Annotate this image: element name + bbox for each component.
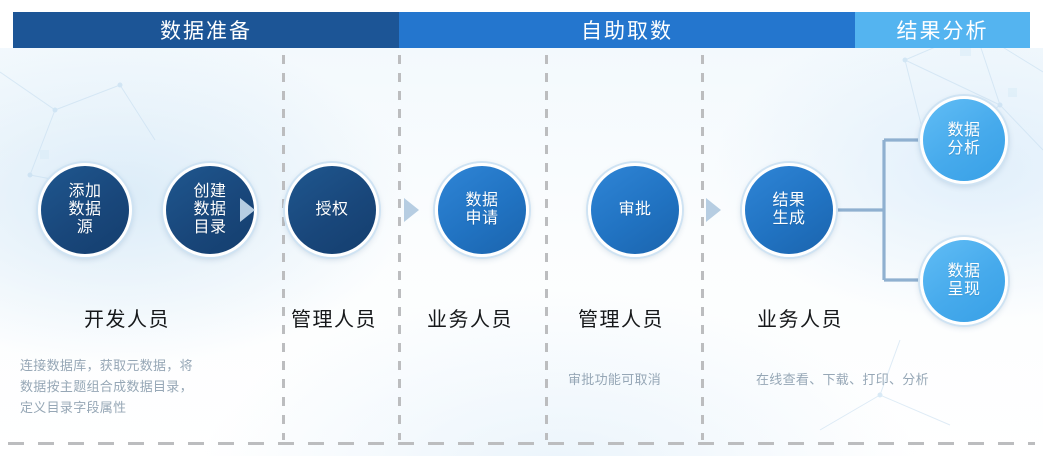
flow-node-add-source-label: 添加数据源 [68,183,101,237]
flow-node-authorize[interactable]: 授权 [285,163,379,257]
role-label-business-2: 业务人员 [757,303,843,332]
column-divider-3 [545,55,548,440]
phase-header-data-preparation: 数据准备 [13,12,399,48]
bottom-divider [8,442,1035,445]
flow-node-result-generation-label: 结果生成 [772,192,805,228]
phase-header-self-service-query: 自助取数 [399,12,855,48]
role-label-developer: 开发人员 [84,303,170,332]
description-data-preparation: 连接数据库，获取元数据，将 数据按主题组合成数据目录， 定义目录字段属性 [20,355,278,418]
description-approval: 审批功能可取消 [568,369,661,390]
flow-node-result-generation[interactable]: 结果生成 [742,163,836,257]
flow-node-data-analysis-label: 数据分析 [947,122,980,158]
role-label-admin-2: 管理人员 [578,303,664,332]
column-divider-4 [701,55,704,440]
infographic-canvas: 数据准备 自助取数 结果分析 添加数据源 创建数据目录 授权 数据申请 审批 [0,0,1043,456]
flow-node-authorize-label: 授权 [315,201,348,219]
description-result-analysis: 在线查看、下载、打印、分析 [756,369,929,390]
column-divider-1 [282,55,285,440]
column-divider-2 [398,55,401,440]
triangle-right-icon-3 [706,198,721,222]
flow-node-data-analysis[interactable]: 数据分析 [920,96,1008,184]
flow-node-data-request[interactable]: 数据申请 [435,163,529,257]
flow-node-approval-label: 审批 [618,201,651,219]
flow-node-add-source[interactable]: 添加数据源 [38,163,132,257]
flow-node-data-presentation-label: 数据呈现 [947,263,980,299]
flow-node-approval[interactable]: 审批 [588,163,682,257]
triangle-right-icon-2 [404,198,419,222]
flow-node-data-request-label: 数据申请 [465,192,498,228]
role-label-admin-1: 管理人员 [291,303,377,332]
flow-node-create-catalog-label: 创建数据目录 [193,183,226,237]
triangle-right-icon-1 [240,198,255,222]
flow-node-data-presentation[interactable]: 数据呈现 [920,237,1008,325]
role-label-business-1: 业务人员 [427,303,513,332]
phase-header-bar: 数据准备 自助取数 结果分析 [13,12,1030,48]
phase-header-result-analysis: 结果分析 [855,12,1030,48]
